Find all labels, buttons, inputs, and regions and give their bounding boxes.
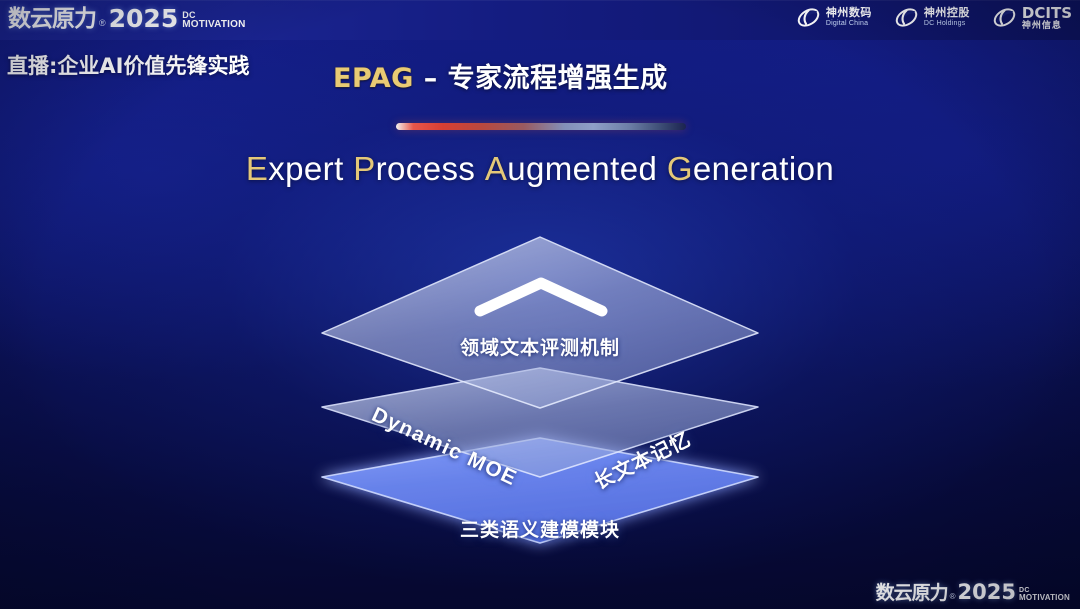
partner-name-en: Digital China xyxy=(826,20,872,28)
partner-logo-digital-china: 神州数码 Digital China xyxy=(796,5,872,30)
watermark-registered-mark: ® xyxy=(950,590,956,603)
partner-text: 神州控股 DC Holdings xyxy=(924,8,970,27)
brand-registered-mark: ® xyxy=(99,15,106,31)
subtitle-rest-augmented: ugmented xyxy=(507,150,657,187)
subtitle-initial-p: P xyxy=(353,150,375,187)
partner-logo-dc-holdings: 神州控股 DC Holdings xyxy=(894,5,970,30)
subtitle-space-2 xyxy=(475,150,485,187)
live-broadcast-title: 直播:企业AI价值先锋实践 xyxy=(7,50,249,80)
watermark-dc-motivation: DC MOTIVATION xyxy=(1019,587,1070,602)
swirl-logo-icon xyxy=(796,5,821,30)
title-separator: – xyxy=(414,63,448,94)
partner-text: 神州数码 Digital China xyxy=(826,8,872,27)
partner-name-cn: 神州数码 xyxy=(826,8,872,20)
brand-name-cn: 数云原力 xyxy=(8,7,96,31)
subtitle-initial-e: E xyxy=(246,150,268,187)
watermark-dc-line2: MOTIVATION xyxy=(1019,594,1070,602)
partner-name-en: DC Holdings xyxy=(924,20,970,28)
partner-name-cn: DCITS xyxy=(1022,5,1072,21)
subtitle-expansion: Expert Process Augmented Generation xyxy=(0,150,1080,188)
stack-layer-top: 领域文本评测机制 xyxy=(290,225,790,565)
title-acronym: EPAG xyxy=(333,63,414,94)
stack-layer-top-label: 领域文本评测机制 xyxy=(290,333,790,360)
subtitle-initial-a: A xyxy=(485,150,507,187)
swirl-logo-icon xyxy=(894,5,919,30)
partner-name-en: 神州信息 xyxy=(1022,21,1072,31)
partner-name-cn: 神州控股 xyxy=(924,8,970,20)
brand-dc-line2: MOTIVATION xyxy=(182,20,245,30)
brand-logo: 数云原力 ® 2025 DC MOTIVATION xyxy=(8,3,246,31)
title-chinese: 专家流程增强生成 xyxy=(448,63,668,94)
subtitle-space-1 xyxy=(344,150,354,187)
watermark-year: 2025 xyxy=(958,582,1016,603)
page-title: EPAG – 专家流程增强生成 xyxy=(333,56,668,95)
watermark-name-cn: 数云原力 xyxy=(876,583,948,603)
brand-year: 2025 xyxy=(109,6,179,31)
gradient-accent-bar xyxy=(396,123,686,130)
subtitle-rest-generation: eneration xyxy=(693,150,834,187)
slide-canvas: 数云原力 ® 2025 DC MOTIVATION 神州数码 xyxy=(0,0,1080,609)
layer-stack-diagram: 三类语义建模模块 Dynamic MOE 长文本记忆 xyxy=(290,225,790,565)
subtitle-space-3 xyxy=(657,150,667,187)
partner-text: DCITS 神州信息 xyxy=(1022,5,1072,31)
subtitle-rest-expert: xpert xyxy=(268,150,343,187)
subtitle-initial-g: G xyxy=(667,150,693,187)
swirl-logo-icon xyxy=(992,5,1017,30)
partner-logo-dcits: DCITS 神州信息 xyxy=(992,5,1072,31)
header-band: 数云原力 ® 2025 DC MOTIVATION 神州数码 xyxy=(0,0,1080,40)
brand-dc-motivation: DC MOTIVATION xyxy=(182,11,245,30)
subtitle-rest-process: rocess xyxy=(376,150,476,187)
bottom-watermark-logo: 数云原力 ® 2025 DC MOTIVATION xyxy=(876,582,1070,603)
partner-logos: 神州数码 Digital China 神州控股 DC Holdings xyxy=(796,5,1072,31)
